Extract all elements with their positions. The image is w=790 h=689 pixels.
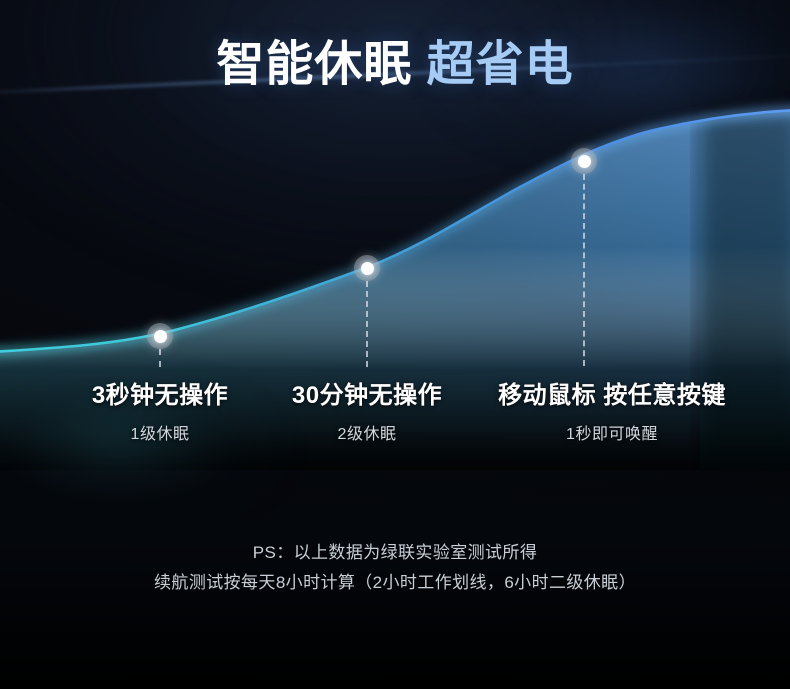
- curve-marker-3[interactable]: [571, 148, 597, 174]
- stage-label-3-title: 移动鼠标 按任意按键: [498, 375, 726, 410]
- page-title-primary: 智能休眠: [216, 38, 412, 91]
- leader-line-3: [583, 174, 585, 366]
- footnote-line-1: PS：以上数据为绿联实验室测试所得: [0, 538, 790, 568]
- leader-line-1: [159, 349, 161, 367]
- page-title: 智能休眠 超省电: [0, 38, 790, 92]
- stage-label-2: 30分钟无操作 2级休眠: [292, 375, 442, 444]
- sleep-power-poster: 智能休眠 超省电 3秒钟无操作 1级休眠 30分钟无操作 2级休眠 移动鼠标 按…: [0, 0, 790, 689]
- stage-label-3-subtitle: 1秒即可唤醒: [498, 420, 726, 444]
- leader-line-2: [366, 281, 368, 367]
- page-title-accent: 超省电: [427, 38, 574, 91]
- stage-label-2-subtitle: 2级休眠: [292, 420, 442, 444]
- footnote-line-2: 续航测试按每天8小时计算（2小时工作划线，6小时二级休眠）: [0, 568, 790, 598]
- stage-label-3: 移动鼠标 按任意按键 1秒即可唤醒: [498, 375, 726, 444]
- stage-label-1: 3秒钟无操作 1级休眠: [92, 375, 228, 444]
- stage-label-1-subtitle: 1级休眠: [92, 420, 228, 444]
- curve-marker-2[interactable]: [354, 255, 380, 281]
- stage-label-1-title: 3秒钟无操作: [92, 375, 228, 410]
- footnote: PS：以上数据为绿联实验室测试所得 续航测试按每天8小时计算（2小时工作划线，6…: [0, 538, 790, 598]
- stage-label-2-title: 30分钟无操作: [292, 375, 442, 410]
- curve-marker-1[interactable]: [147, 323, 173, 349]
